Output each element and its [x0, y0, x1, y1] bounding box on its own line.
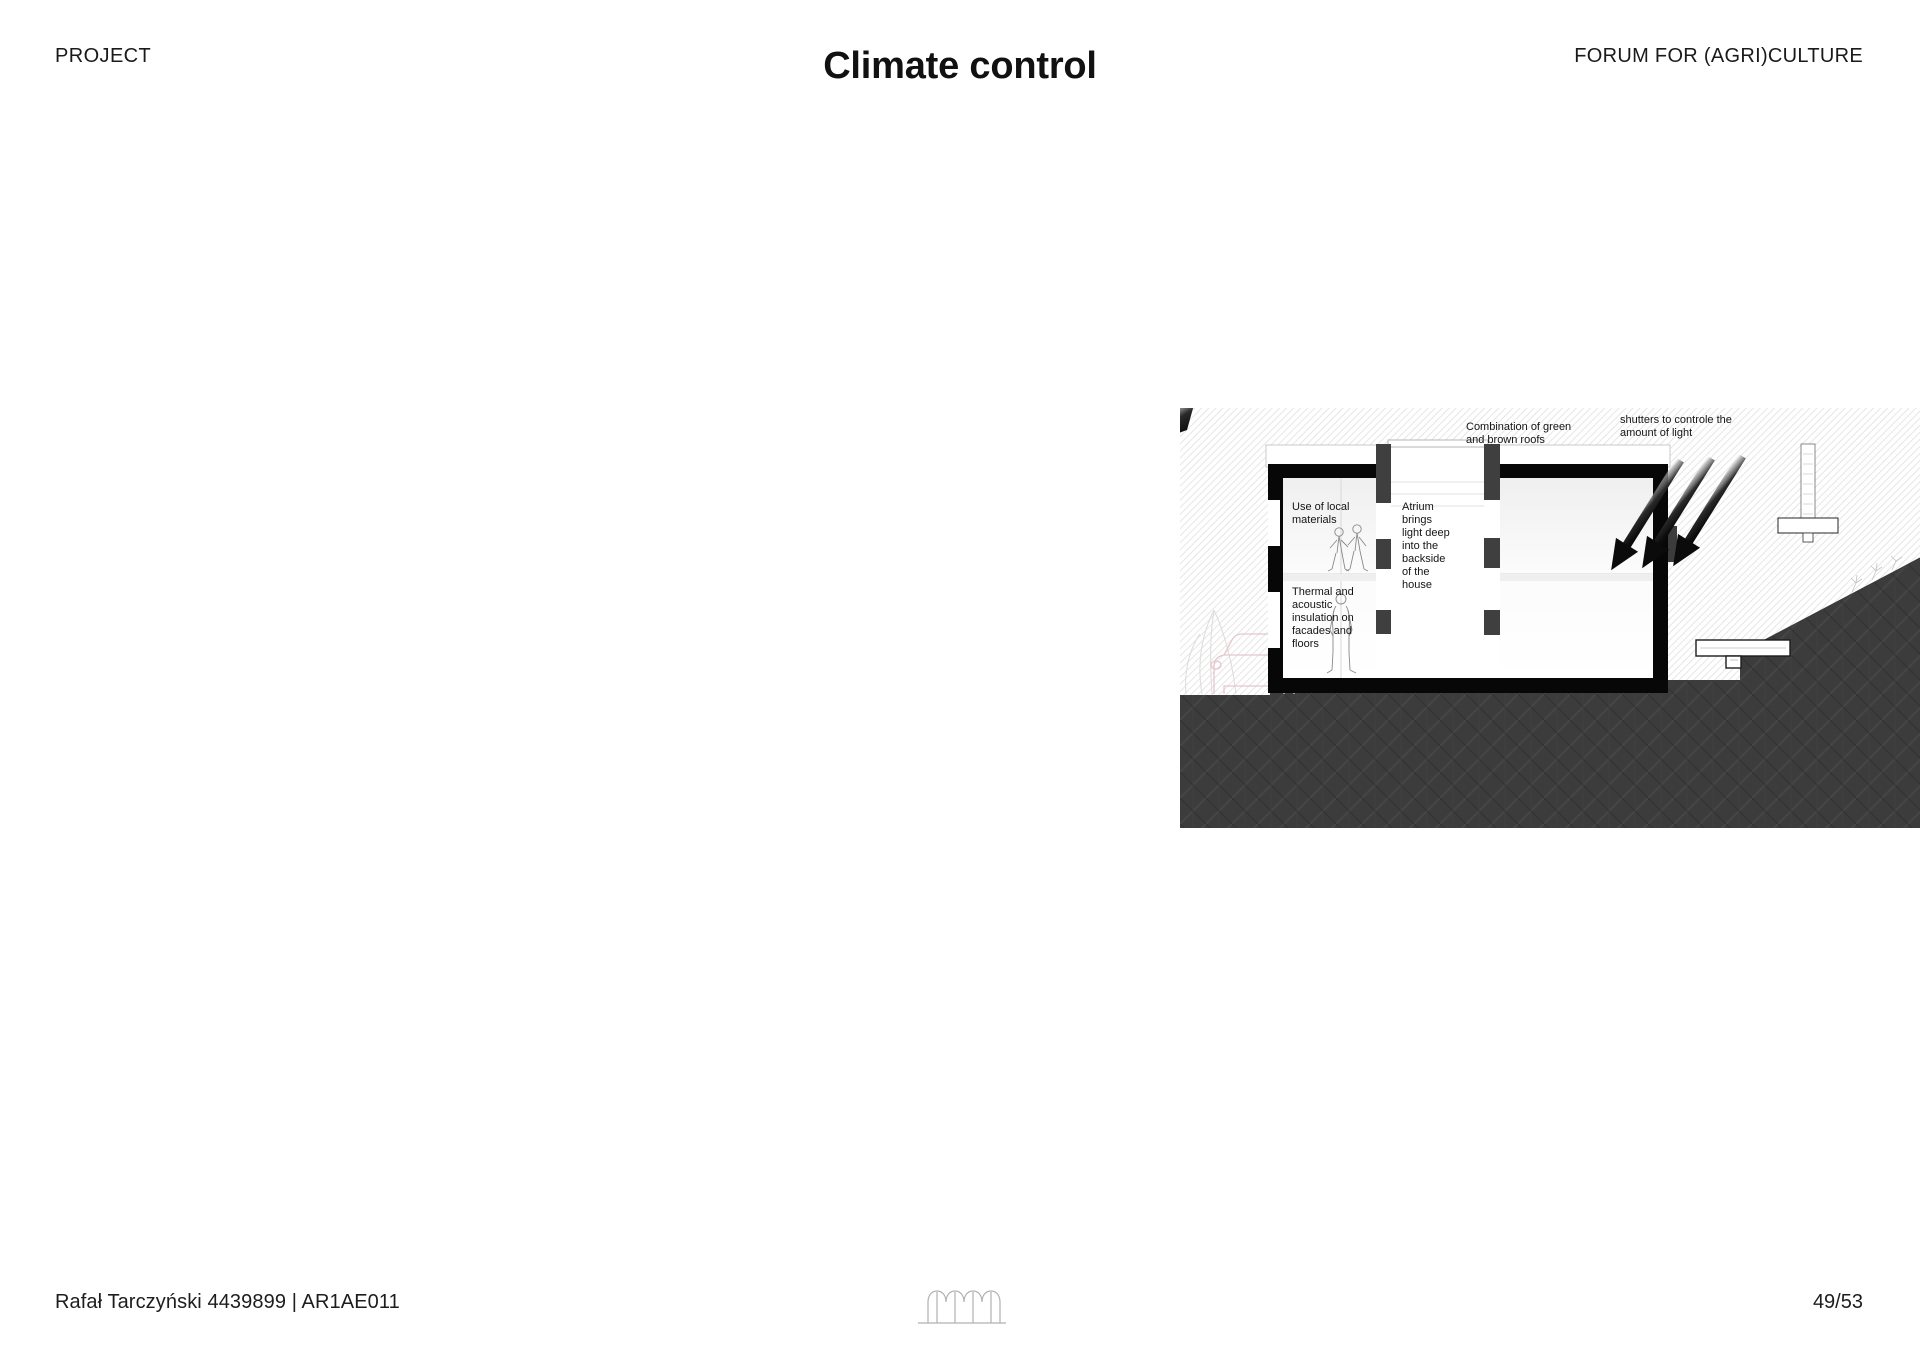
annotation-insulation-line1: Thermal and — [1292, 586, 1354, 598]
annotation-atrium-line5: backside — [1402, 553, 1445, 565]
page-number: 49/53 — [1813, 1291, 1863, 1314]
annotation-materials-line2: materials — [1292, 514, 1337, 526]
footer-author-label: Rafał Tarczyński 4439899 | AR1AE011 — [55, 1291, 400, 1314]
shutter-column-right — [1484, 444, 1500, 678]
annotation-shutters-line2: amount of light — [1620, 427, 1692, 439]
shutter-column-left — [1376, 444, 1391, 678]
slide-header: PROJECT Climate control FORUM FOR (AGRI)… — [0, 0, 1920, 110]
ground-mass — [1180, 680, 1740, 828]
annotation-roofs-line2: and brown roofs — [1466, 434, 1545, 446]
annotation-insulation-line4: facades and — [1292, 625, 1352, 637]
annotation-roofs-line1: Combination of green — [1466, 421, 1571, 433]
annotation-atrium-line3: light deep — [1402, 527, 1450, 539]
annotation-materials-line1: Use of local — [1292, 501, 1349, 513]
annotation-shutters-line1: shutters to controle the — [1620, 414, 1732, 426]
annotation-insulation-line5: floors — [1292, 638, 1319, 650]
annotation-insulation-line3: insulation on — [1292, 612, 1354, 624]
slide-footer: Rafał Tarczyński 4439899 | AR1AE011 49/5… — [0, 1267, 1920, 1357]
annotation-insulation-line2: acoustic — [1292, 599, 1333, 611]
annotation-atrium-line4: into the — [1402, 540, 1438, 552]
annotation-atrium-line7: house — [1402, 579, 1432, 591]
section-diagram: Combination of green and brown roofs shu… — [1180, 408, 1920, 828]
barn-arches-logo — [914, 1285, 1006, 1327]
header-project-label: FORUM FOR (AGRI)CULTURE — [1574, 45, 1863, 68]
annotation-atrium-line6: of the — [1402, 566, 1430, 578]
roof-slab — [1266, 445, 1670, 467]
annotation-atrium-line2: brings — [1402, 514, 1432, 526]
annotation-atrium-line1: Atrium — [1402, 501, 1434, 513]
